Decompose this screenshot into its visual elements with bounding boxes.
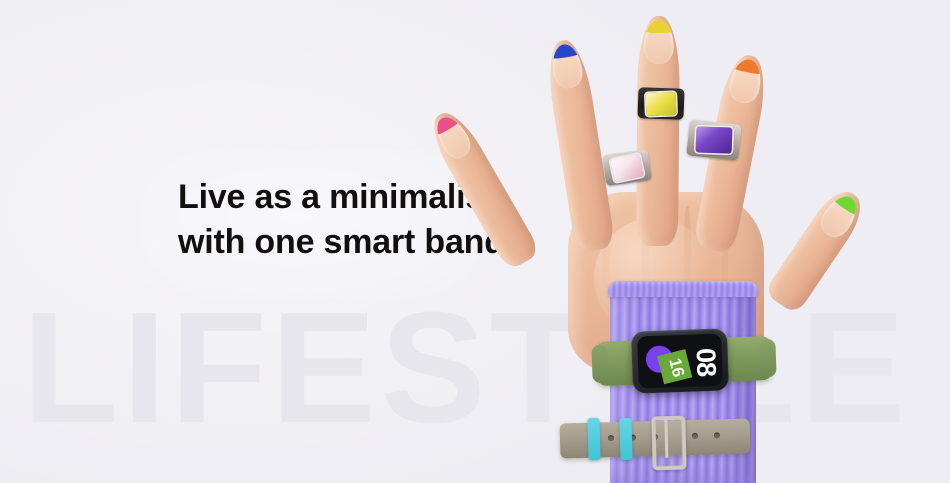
- strap-hole: [608, 435, 614, 441]
- lifestyle-banner: LIFESTYLE Live as a minimalist with one …: [0, 0, 950, 483]
- nail-tip-index: [549, 42, 581, 60]
- nail-middle: [643, 20, 674, 64]
- nail-tip-middle: [643, 20, 674, 33]
- finger-pinky: [763, 183, 870, 315]
- strap-loop-cyan: [619, 418, 632, 460]
- nail-tip-thumb: [430, 111, 461, 136]
- smart-band-screen: 16 08: [637, 334, 723, 389]
- gem-yellow-citrine: [646, 91, 677, 115]
- finger-index: [543, 37, 616, 253]
- strap-buckle: [651, 416, 686, 471]
- knit-sleeve-cuff: [608, 281, 758, 297]
- watchface-hour: 08: [684, 347, 723, 373]
- ring-middle: [637, 87, 684, 120]
- ring-ring: [686, 119, 741, 160]
- ring-index: [602, 149, 652, 186]
- finger-middle: [636, 16, 680, 246]
- smart-band-case: 16 08: [631, 328, 729, 393]
- hand-product-photo: 16 08: [492, 0, 950, 483]
- strap-loop-cyan: [587, 418, 600, 460]
- nail-tip-ring: [732, 57, 765, 76]
- gem-purple-amethyst: [696, 126, 733, 153]
- strap-hole: [692, 433, 698, 439]
- strap-hole: [714, 432, 720, 438]
- buckle-pin: [664, 418, 668, 458]
